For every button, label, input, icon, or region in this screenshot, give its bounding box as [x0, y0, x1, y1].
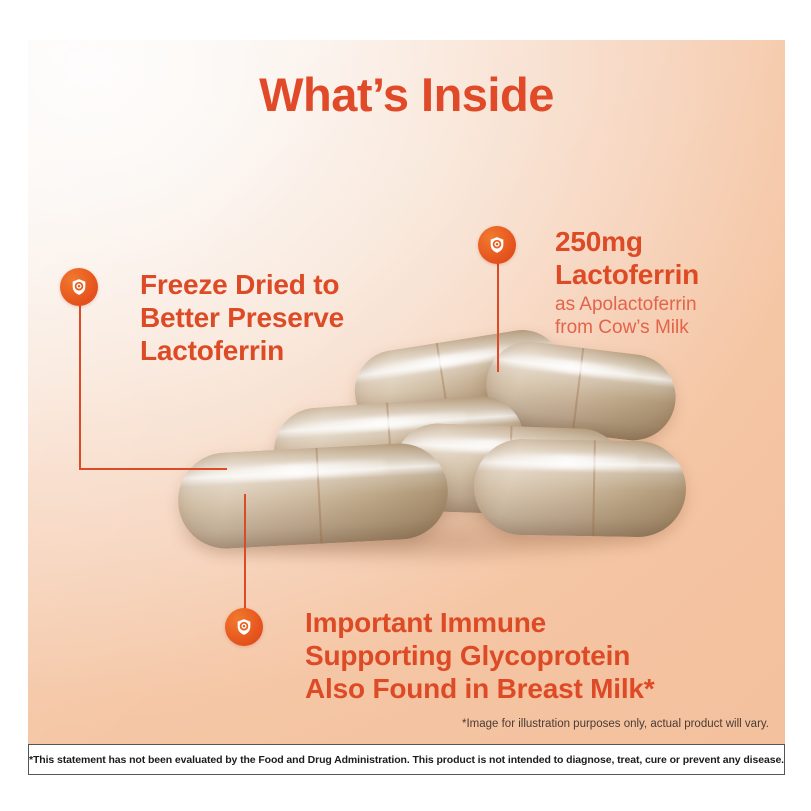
callout-headline: Freeze Dried to Better Preserve Lactofer… — [140, 268, 420, 367]
leader-line-immune-support — [244, 494, 246, 612]
callout-dosage: 250mg Lactoferrin as Apolactoferrin from… — [555, 225, 785, 339]
shield-badge-icon — [478, 226, 516, 264]
whats-inside-infographic: What’s Inside — [0, 0, 811, 811]
page-title: What’s Inside — [28, 67, 785, 122]
image-disclaimer: *Image for illustration purposes only, a… — [462, 718, 769, 730]
infographic-panel: What’s Inside — [28, 40, 785, 744]
callout-headline: 250mg Lactoferrin — [555, 225, 785, 291]
leader-line-freeze-dried-vertical — [79, 304, 81, 470]
leader-line-freeze-dried-horizontal — [79, 468, 227, 470]
shield-badge-icon — [60, 268, 98, 306]
capsule-highlight — [506, 352, 638, 380]
product-image — [156, 330, 686, 580]
callout-immune-support: Important Immune Supporting Glycoprotein… — [305, 606, 735, 705]
fda-disclaimer-text: *This statement has not been evaluated b… — [29, 754, 784, 766]
callout-freeze-dried: Freeze Dried to Better Preserve Lactofer… — [140, 268, 420, 367]
callout-subtext: as Apolactoferrin from Cow’s Milk — [555, 293, 785, 339]
capsule — [176, 441, 451, 551]
shield-badge-icon — [225, 608, 263, 646]
callout-headline: Important Immune Supporting Glycoprotein… — [305, 606, 735, 705]
fda-disclaimer-box: *This statement has not been evaluated b… — [28, 744, 785, 775]
capsule-highlight — [493, 454, 640, 470]
capsule-highlight — [201, 459, 388, 482]
capsule — [473, 438, 687, 538]
leader-line-dosage — [497, 262, 499, 372]
